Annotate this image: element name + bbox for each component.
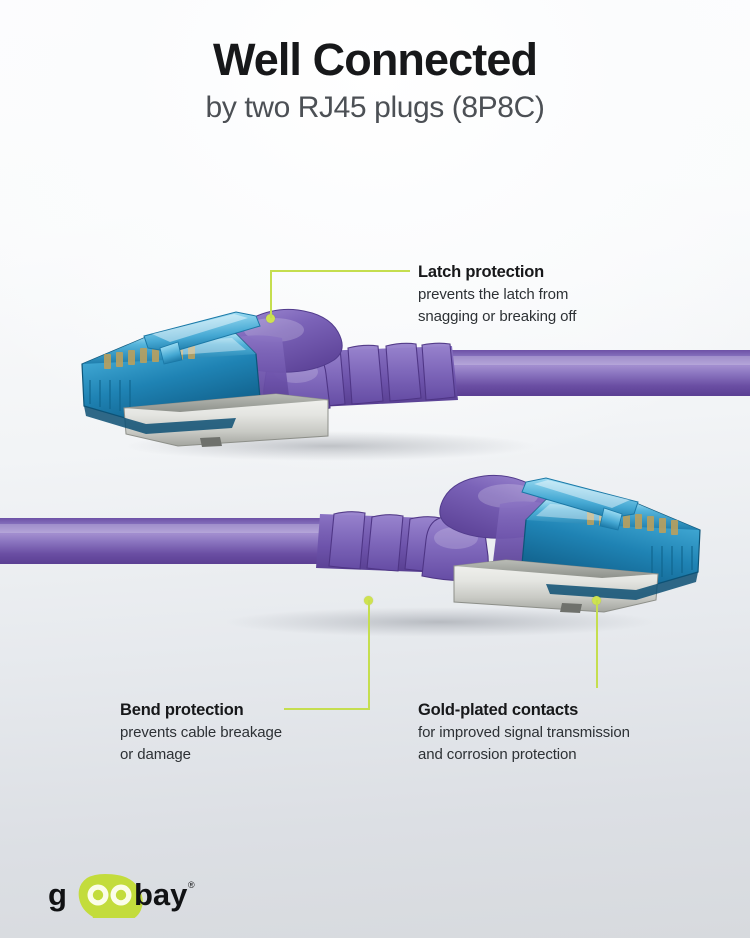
callout-latch-protection: Latch protection prevents the latch from…	[418, 262, 576, 327]
callout-line-1: prevents cable breakage	[120, 723, 282, 743]
latch-protection-boot-top	[229, 309, 342, 372]
header: Well Connected by two RJ45 plugs (8P8C)	[0, 36, 750, 126]
leader-segment-vertical	[596, 600, 598, 688]
cable-jacket-bottom	[0, 518, 340, 564]
latch-protection-boot-bottom	[440, 475, 553, 538]
svg-text:bay: bay	[134, 877, 188, 912]
plug-collar-top	[210, 335, 290, 410]
rj45-plug-bottom	[0, 440, 730, 650]
leader-segment-vertical	[368, 600, 370, 708]
rj45-latch-top	[144, 312, 260, 364]
svg-text:®: ®	[188, 880, 195, 890]
callout-title: Gold-plated contacts	[418, 700, 630, 721]
callout-title: Latch protection	[418, 262, 576, 283]
leader-segment-vertical	[270, 270, 272, 318]
plug-collar-bottom	[492, 501, 572, 576]
strain-relief-bottom	[316, 512, 488, 581]
metal-shield-top	[124, 394, 328, 447]
callout-bend-protection: Bend protection prevents cable breakage …	[120, 700, 282, 765]
goobay-logo: g bay ®	[48, 872, 198, 918]
callout-line-2: or damage	[120, 745, 282, 765]
rj45-latch-bottom	[522, 478, 638, 530]
rj45-housing-top	[82, 334, 260, 424]
callout-gold-plated-contacts: Gold-plated contacts for improved signal…	[418, 700, 630, 765]
metal-shield-bottom	[454, 560, 658, 613]
plug-bottom-shadow	[225, 607, 655, 637]
callout-line-2: and corrosion protection	[418, 745, 630, 765]
leader-segment-horizontal	[284, 708, 370, 710]
page-subtitle: by two RJ45 plugs (8P8C)	[0, 90, 750, 126]
product-illustration	[0, 0, 750, 938]
page-title: Well Connected	[0, 36, 750, 84]
leader-segment-horizontal	[270, 270, 410, 272]
plug-top-shadow	[125, 431, 535, 461]
gold-plated-contacts-bottom	[587, 510, 678, 535]
svg-text:g: g	[48, 877, 67, 912]
callout-line-2: snagging or breaking off	[418, 307, 576, 327]
logo-artwork: g bay ®	[48, 872, 198, 918]
rj45-plug-top	[60, 268, 750, 468]
cable-jacket-top	[438, 350, 750, 396]
callout-title: Bend protection	[120, 700, 282, 721]
strain-relief-top	[264, 343, 458, 412]
callout-line-1: for improved signal transmission	[418, 723, 630, 743]
callout-line-1: prevents the latch from	[418, 285, 576, 305]
gold-plated-contacts-top	[104, 344, 195, 369]
infographic-canvas: Well Connected by two RJ45 plugs (8P8C)	[0, 0, 750, 938]
rj45-housing-bottom	[522, 500, 700, 590]
